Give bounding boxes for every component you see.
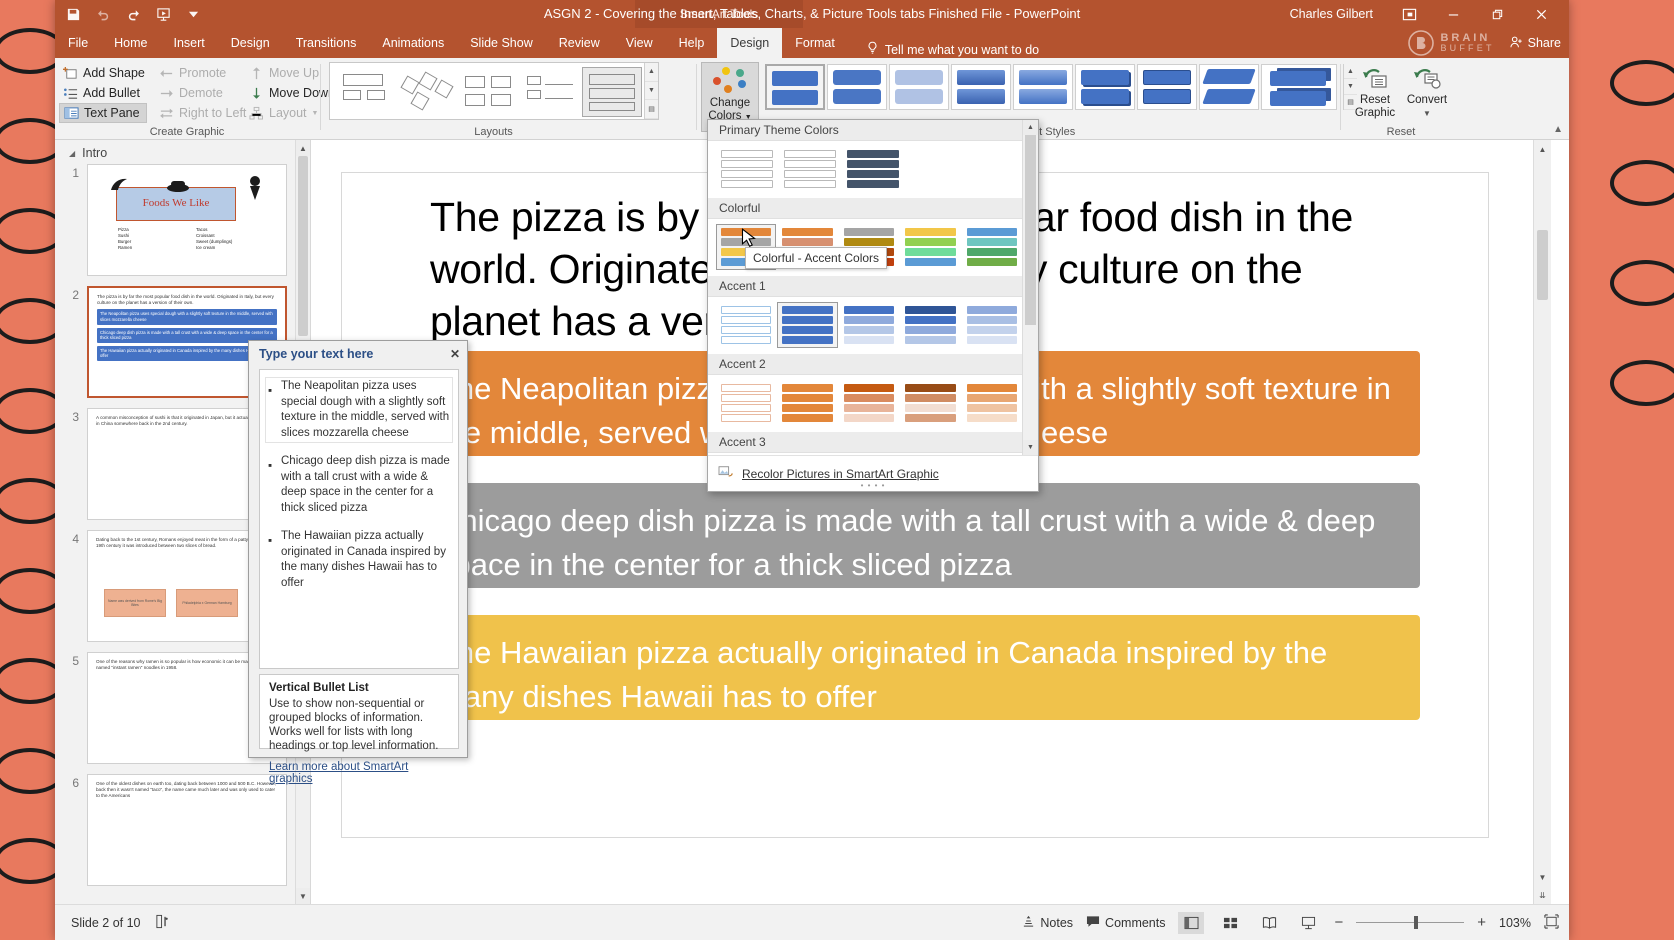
powerpoint-window: SmartArt Tools ASGN 2 - Covering the Ins… bbox=[55, 0, 1569, 940]
right-to-left-icon bbox=[159, 106, 174, 121]
scroll-down-icon[interactable]: ▼ bbox=[645, 82, 658, 101]
share-label: Share bbox=[1528, 36, 1561, 50]
slide2-bar-1: The Neapolitan pizza uses special dough … bbox=[97, 309, 277, 324]
slide2-paragraph: The pizza is by far the most popular foo… bbox=[97, 294, 277, 306]
normal-view-icon[interactable] bbox=[1178, 912, 1204, 934]
slide-sorter-icon[interactable] bbox=[1217, 912, 1243, 934]
slide-number-3: 3 bbox=[65, 408, 87, 520]
scroll-down-icon[interactable]: ▼ bbox=[296, 888, 310, 904]
change-colors-label-1: Change bbox=[710, 97, 750, 109]
collapse-section-icon[interactable]: ◢ bbox=[69, 149, 75, 158]
text-pane-bullet-1[interactable]: ▪ The Neapolitan pizza uses special doug… bbox=[265, 377, 453, 443]
add-shape-label: Add Shape bbox=[83, 66, 145, 80]
bullet-icon: ▪ bbox=[268, 529, 274, 591]
text-pane-bullet-3[interactable]: ▪ The Hawaiian pizza actually originated… bbox=[265, 527, 453, 593]
scrollbar-thumb[interactable] bbox=[1025, 135, 1036, 325]
ribbon-group-layouts: ▲ ▼ ▤ Layouts bbox=[321, 58, 696, 140]
tell-me-box[interactable]: Tell me what you want to do bbox=[848, 41, 1039, 58]
scroll-up-icon[interactable]: ▲ bbox=[645, 63, 658, 82]
layout-option-4[interactable] bbox=[520, 67, 580, 117]
convert-label: Convert bbox=[1403, 94, 1451, 107]
recolor-pictures-label: Recolor Pictures in SmartArt Graphic bbox=[742, 467, 939, 481]
move-up-label: Move Up bbox=[269, 66, 319, 80]
thumbnail-row-1[interactable]: 1 Foods We Like Pizza Sushi Burger Ramen… bbox=[55, 164, 310, 276]
smartart-shape-2[interactable]: Chicago deep dish pizza is made with a t… bbox=[420, 483, 1420, 588]
layout-option-2[interactable] bbox=[396, 67, 456, 117]
move-down-icon bbox=[249, 86, 264, 101]
text-pane-bullet-text: The Hawaiian pizza actually originated i… bbox=[281, 529, 450, 591]
slide1-left-item: Ramen bbox=[118, 245, 132, 251]
convert-icon bbox=[1403, 64, 1451, 94]
recolor-pictures-icon bbox=[718, 465, 734, 482]
convert-button[interactable]: Convert ▼ bbox=[1403, 64, 1451, 120]
swatch-accent2-outline[interactable] bbox=[716, 380, 776, 426]
promote-button: Promote bbox=[155, 63, 241, 83]
share-button[interactable]: Share bbox=[1509, 35, 1561, 52]
swatch-dark-2-fill[interactable] bbox=[842, 146, 904, 192]
tab-slide-show[interactable]: Slide Show bbox=[457, 28, 546, 58]
bullet-icon: ▪ bbox=[268, 454, 274, 516]
scroll-down-icon[interactable]: ▼ bbox=[1534, 868, 1551, 886]
notes-button[interactable]: Notes bbox=[1022, 915, 1073, 931]
change-colors-dropdown[interactable]: Primary Theme Colors Colorful bbox=[707, 119, 1039, 492]
slide-number-1: 1 bbox=[65, 164, 87, 276]
section-header-accent-1: Accent 1 bbox=[708, 276, 1022, 297]
tab-file[interactable]: File bbox=[55, 28, 101, 58]
tab-transitions[interactable]: Transitions bbox=[283, 28, 370, 58]
change-colors-scrollbar[interactable]: ▲ ▼ bbox=[1022, 120, 1038, 455]
zoom-out-button[interactable]: − bbox=[1334, 914, 1343, 931]
slide4-card-1: Name was derived from Rome's Big Bites bbox=[104, 589, 166, 617]
comments-icon bbox=[1086, 915, 1100, 931]
right-to-left-label: Right to Left bbox=[179, 106, 246, 120]
zoom-slider-handle[interactable] bbox=[1414, 916, 1418, 929]
move-down-button[interactable]: Move Down bbox=[245, 83, 323, 103]
group-label-reset: Reset bbox=[1341, 126, 1461, 138]
scrollbar-thumb[interactable] bbox=[298, 156, 308, 336]
notebook-ring bbox=[1610, 360, 1674, 406]
notebook-ring bbox=[1610, 260, 1674, 306]
bullet-icon: ▪ bbox=[268, 379, 274, 441]
text-pane-list[interactable]: ▪ The Neapolitan pizza uses special doug… bbox=[259, 369, 459, 669]
slide-count-label[interactable]: Slide 2 of 10 bbox=[71, 916, 141, 930]
scroll-up-icon[interactable]: ▲ bbox=[1023, 120, 1038, 135]
section-header-intro[interactable]: ◢ Intro bbox=[55, 140, 310, 164]
comments-label: Comments bbox=[1105, 916, 1165, 930]
swatch-colorful-range-accent-colors-5-6[interactable] bbox=[962, 224, 1022, 270]
reset-graphic-button[interactable]: Reset Graphic bbox=[1351, 64, 1399, 120]
swatch-accent1-outline[interactable] bbox=[716, 302, 776, 348]
tab-view[interactable]: View bbox=[613, 28, 666, 58]
next-slide-icon[interactable]: ⇊ bbox=[1534, 886, 1551, 904]
resize-grip-icon[interactable]: • • • • bbox=[861, 481, 886, 490]
smartart-style-9-3d[interactable] bbox=[1261, 64, 1337, 110]
tab-home[interactable]: Home bbox=[101, 28, 160, 58]
swatch-row-accent-2 bbox=[708, 375, 1022, 432]
text-pane-footer: Vertical Bullet List Use to show non-seq… bbox=[259, 674, 459, 749]
layout-icon bbox=[249, 106, 264, 121]
section-header-accent-2: Accent 2 bbox=[708, 354, 1022, 375]
slide-thumbnail-6[interactable]: One of the oldest dishes on earth too, d… bbox=[87, 774, 287, 886]
swatch-accent2-gradient-range[interactable] bbox=[839, 380, 899, 426]
add-bullet-label: Add Bullet bbox=[83, 86, 140, 100]
layout-button: Layout ▼ bbox=[245, 103, 323, 123]
swatch-accent2-gradient-loop[interactable] bbox=[900, 380, 960, 426]
add-shape-icon bbox=[63, 66, 78, 81]
text-pane-label: Text Pane bbox=[84, 106, 140, 120]
layout-option-3[interactable] bbox=[458, 67, 518, 117]
demote-icon bbox=[159, 86, 174, 101]
tab-help[interactable]: Help bbox=[666, 28, 718, 58]
layout-description: Use to show non-sequential or grouped bl… bbox=[269, 697, 449, 753]
tab-insert[interactable]: Insert bbox=[161, 28, 218, 58]
ribbon-group-reset: Reset Graphic Convert ▼ Reset bbox=[1341, 58, 1461, 140]
tab-animations[interactable]: Animations bbox=[369, 28, 457, 58]
text-pane-title: Type your text here bbox=[259, 347, 373, 361]
tab-smartart-format[interactable]: Format bbox=[782, 28, 848, 58]
swatch-row-primary-theme-colors bbox=[708, 141, 1022, 198]
minimize-icon[interactable] bbox=[1433, 0, 1473, 28]
smartart-style-4[interactable] bbox=[951, 64, 1011, 110]
smartart-style-5[interactable] bbox=[1013, 64, 1073, 110]
slide1-right-item: Ice cream bbox=[196, 245, 232, 251]
reset-graphic-label-1: Reset bbox=[1351, 94, 1399, 107]
ribbon-group-create-graphic: Add Shape Add Bullet Text Pane bbox=[55, 58, 320, 140]
swatch-accent1-gradient-loop[interactable] bbox=[900, 302, 960, 348]
layout-name: Vertical Bullet List bbox=[269, 682, 449, 694]
scroll-down-icon[interactable]: ▼ bbox=[1023, 440, 1038, 455]
slide-show-icon[interactable] bbox=[1295, 912, 1321, 934]
scroll-up-icon[interactable]: ▲ bbox=[1534, 140, 1551, 158]
chevron-down-icon: ▼ bbox=[1403, 107, 1451, 120]
notes-icon bbox=[1022, 915, 1035, 931]
slide6-paragraph: One of the oldest dishes on earth too, d… bbox=[96, 781, 278, 800]
smartart-style-7[interactable] bbox=[1137, 64, 1197, 110]
layout-option-1[interactable] bbox=[334, 67, 394, 117]
restore-icon[interactable] bbox=[1477, 0, 1517, 28]
layout-option-vertical-bullet-list[interactable] bbox=[582, 67, 642, 117]
canvas-scrollbar[interactable]: ▲ ▼ ⇊ bbox=[1533, 140, 1551, 904]
layouts-gallery[interactable]: ▲ ▼ ▤ bbox=[329, 62, 659, 120]
more-layouts-icon[interactable]: ▤ bbox=[645, 100, 658, 119]
chevron-down-icon: ▼ bbox=[312, 110, 319, 117]
smartart-text-pane[interactable]: Type your text here ✕ ▪ The Neapolitan p… bbox=[248, 340, 468, 758]
demote-button: Demote bbox=[155, 83, 241, 103]
move-up-button: Move Up bbox=[245, 63, 323, 83]
scroll-up-icon[interactable]: ▲ bbox=[296, 140, 310, 156]
ribbon-display-options-icon[interactable] bbox=[1389, 0, 1429, 28]
color-palette-dots-icon bbox=[710, 67, 750, 95]
notebook-ring bbox=[1610, 60, 1674, 106]
learn-more-link[interactable]: Learn more about SmartArt graphics bbox=[269, 761, 449, 785]
notes-label: Notes bbox=[1040, 916, 1073, 930]
text-pane-bullet-text: The Neapolitan pizza uses special dough … bbox=[281, 379, 450, 441]
status-bar: Slide 2 of 10 Notes Comments bbox=[55, 904, 1569, 940]
promote-icon bbox=[159, 66, 174, 81]
smartart-shape-3[interactable]: The Hawaiian pizza actually originated i… bbox=[420, 615, 1420, 720]
add-bullet-button[interactable]: Add Bullet bbox=[59, 83, 147, 103]
smartart-style-2[interactable] bbox=[827, 64, 887, 110]
add-shape-button[interactable]: Add Shape bbox=[59, 63, 147, 83]
swatch-accent2-transparent[interactable] bbox=[962, 380, 1022, 426]
notebook-ring bbox=[1610, 160, 1674, 206]
reading-view-icon[interactable] bbox=[1256, 912, 1282, 934]
thumbnail-row-6[interactable]: 6 One of the oldest dishes on earth too,… bbox=[55, 774, 310, 886]
section-header-colorful: Colorful bbox=[708, 198, 1022, 219]
change-colors-scroll-area: Primary Theme Colors Colorful bbox=[708, 120, 1022, 455]
promote-label: Promote bbox=[179, 66, 226, 80]
swatch-primary-theme-1[interactable] bbox=[716, 146, 778, 192]
slide-number-6: 6 bbox=[65, 774, 87, 886]
reset-graphic-icon bbox=[1351, 64, 1399, 94]
section-header-accent-3: Accent 3 bbox=[708, 432, 1022, 453]
reset-graphic-label-2: Graphic bbox=[1351, 107, 1399, 120]
group-label-create-graphic: Create Graphic bbox=[97, 126, 277, 138]
recolor-pictures-menu-item[interactable]: Recolor Pictures in SmartArt Graphic • •… bbox=[708, 455, 1038, 491]
slide1-title: Foods We Like bbox=[116, 197, 236, 209]
text-pane-bullet-text: Chicago deep dish pizza is made with a t… bbox=[281, 454, 450, 516]
move-up-icon bbox=[249, 66, 264, 81]
zoom-slider[interactable] bbox=[1356, 922, 1464, 923]
smartart-style-8[interactable] bbox=[1199, 64, 1259, 110]
group-label-layouts: Layouts bbox=[321, 126, 666, 138]
tab-bar-right: BRAIN BUFFET Share bbox=[1408, 28, 1561, 58]
add-bullet-icon bbox=[63, 86, 78, 101]
fit-slide-to-window-icon[interactable] bbox=[1544, 914, 1559, 932]
slide4-card-2: Philadelphia x German Hamburg bbox=[176, 589, 238, 617]
lightbulb-icon bbox=[866, 41, 879, 58]
ribbon-tab-bar: File Home Insert Design Transitions Anim… bbox=[55, 28, 1569, 58]
slide-thumbnail-1[interactable]: Foods We Like Pizza Sushi Burger Ramen T… bbox=[87, 164, 287, 276]
accessibility-checker-icon[interactable] bbox=[155, 914, 170, 932]
title-bar-right: Charles Gilbert bbox=[1290, 0, 1561, 28]
tab-smartart-design[interactable]: Design bbox=[717, 28, 782, 58]
tab-design[interactable]: Design bbox=[218, 28, 283, 58]
slide-number-4: 4 bbox=[65, 530, 87, 642]
swatch-accent1-transparent[interactable] bbox=[962, 302, 1022, 348]
layout-label: Layout bbox=[269, 106, 307, 120]
collapse-ribbon-icon[interactable]: ▲ bbox=[1553, 124, 1563, 135]
share-person-icon bbox=[1509, 35, 1523, 52]
swatch-accent2-colored-fill[interactable] bbox=[777, 380, 837, 426]
swatch-row-accent-1 bbox=[708, 297, 1022, 354]
layouts-gallery-scrollbar[interactable]: ▲ ▼ ▤ bbox=[644, 63, 658, 119]
swatch-colorful-range-accent-colors-4-5[interactable] bbox=[900, 224, 960, 270]
section-label: Intro bbox=[82, 146, 107, 160]
slide-number-5: 5 bbox=[65, 652, 87, 764]
text-pane-icon bbox=[64, 106, 79, 121]
text-pane-header: Type your text here ✕ bbox=[249, 341, 467, 367]
right-to-left-button: Right to Left bbox=[155, 103, 241, 123]
tell-me-label: Tell me what you want to do bbox=[885, 43, 1039, 57]
smartart-style-3[interactable] bbox=[889, 64, 949, 110]
color-swatch-tooltip: Colorful - Accent Colors bbox=[745, 247, 887, 269]
brain-buffet-logo: BRAIN BUFFET bbox=[1408, 30, 1494, 56]
swatch-accent1-colored-fill[interactable] bbox=[777, 302, 837, 348]
close-icon[interactable] bbox=[1521, 0, 1561, 28]
comments-button[interactable]: Comments bbox=[1086, 915, 1165, 931]
smartart-style-6[interactable] bbox=[1075, 64, 1135, 110]
smartart-style-1[interactable] bbox=[765, 64, 825, 110]
zoom-level-label[interactable]: 103% bbox=[1499, 916, 1531, 930]
mouse-cursor-icon bbox=[741, 228, 757, 253]
title-bar: SmartArt Tools ASGN 2 - Covering the Ins… bbox=[55, 0, 1569, 28]
user-name[interactable]: Charles Gilbert bbox=[1290, 7, 1373, 21]
swatch-primary-theme-2[interactable] bbox=[779, 146, 841, 192]
scrollbar-thumb[interactable] bbox=[1537, 230, 1548, 300]
demote-label: Demote bbox=[179, 86, 223, 100]
swatch-accent1-gradient-range[interactable] bbox=[839, 302, 899, 348]
brand-line-2: BUFFET bbox=[1440, 44, 1494, 53]
text-pane-button[interactable]: Text Pane bbox=[59, 103, 147, 123]
text-pane-bullet-2[interactable]: ▪ Chicago deep dish pizza is made with a… bbox=[265, 452, 453, 518]
section-header-primary-theme-colors: Primary Theme Colors bbox=[708, 120, 1022, 141]
close-icon[interactable]: ✕ bbox=[450, 347, 460, 361]
tab-review[interactable]: Review bbox=[546, 28, 613, 58]
slide-number-2: 2 bbox=[65, 286, 87, 398]
zoom-in-button[interactable]: + bbox=[1477, 914, 1486, 931]
